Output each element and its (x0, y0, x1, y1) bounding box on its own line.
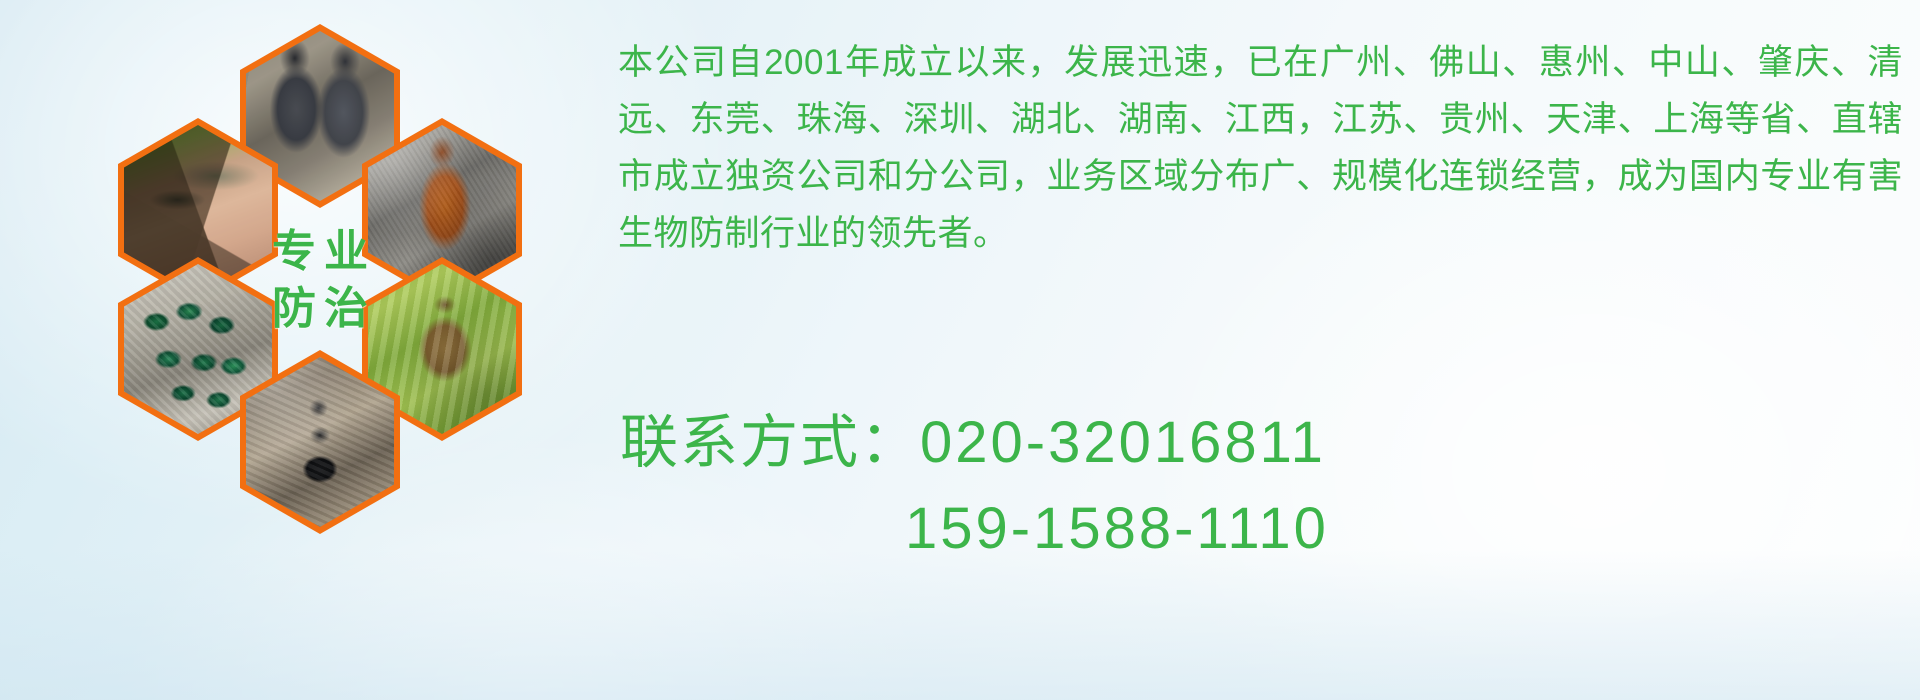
contact-secondary-row: 159-1588-1110 (620, 486, 1920, 572)
slogan-line-2: 防治 (264, 284, 376, 333)
ant-image (246, 357, 394, 527)
hexagon-photo-cluster: 专业 防治 (90, 10, 590, 570)
company-intro-banner: 专业 防治 本公司自2001年成立以来，发展迅速，已在广州、佛山、惠州、中山、肇… (0, 0, 1920, 700)
contact-phone-primary[interactable]: 020-32016811 (920, 410, 1326, 475)
contact-label: 联系方式： (620, 410, 920, 475)
slogan-line-1: 专业 (264, 227, 376, 276)
contact-phone-secondary[interactable]: 159-1588-1110 (905, 496, 1329, 561)
background-bottom-haze (0, 550, 1920, 700)
contact-primary-row: 联系方式：020-32016811 (620, 400, 1920, 486)
contact-info: 联系方式：020-32016811 159-1588-1110 (620, 400, 1920, 572)
company-intro-text: 本公司自2001年成立以来，发展迅速，已在广州、佛山、惠州、中山、肇庆、清远、东… (618, 34, 1903, 262)
intro-paragraph: 本公司自2001年成立以来，发展迅速，已在广州、佛山、惠州、中山、肇庆、清远、东… (618, 34, 1903, 262)
ant-photo (246, 357, 394, 527)
slogan-center: 专业 防治 (240, 188, 400, 372)
